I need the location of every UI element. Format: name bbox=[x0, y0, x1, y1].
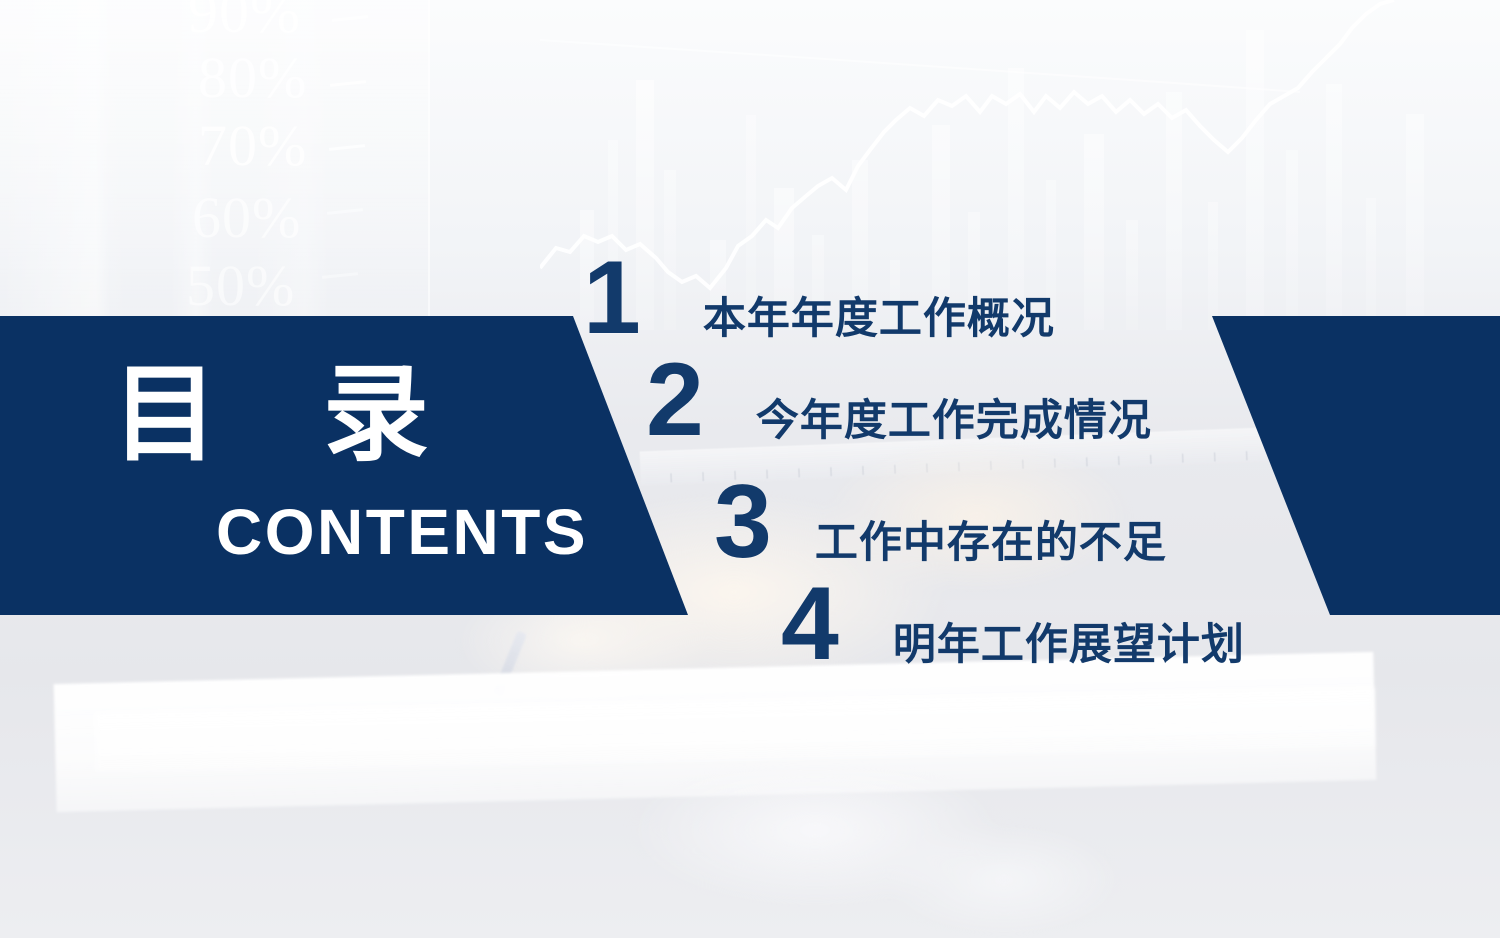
agenda-item-3[interactable]: 3 工作中存在的不足 bbox=[714, 470, 1167, 574]
agenda-item-2-number: 2 bbox=[646, 348, 704, 452]
agenda-item-1-label: 本年年度工作概况 bbox=[703, 298, 1055, 341]
agenda-item-4[interactable]: 4 明年工作展望计划 bbox=[781, 572, 1245, 676]
agenda-list: 1 本年年度工作概况 2 今年度工作完成情况 3 工作中存在的不足 4 明年工作… bbox=[0, 0, 1500, 938]
agenda-item-4-number: 4 bbox=[781, 572, 839, 676]
agenda-item-1-number: 1 bbox=[583, 246, 641, 350]
agenda-item-3-number: 3 bbox=[714, 470, 772, 574]
agenda-item-2[interactable]: 2 今年度工作完成情况 bbox=[646, 348, 1152, 452]
agenda-item-1[interactable]: 1 本年年度工作概况 bbox=[583, 246, 1055, 350]
agenda-item-2-label: 今年度工作完成情况 bbox=[756, 400, 1152, 443]
agenda-item-4-label: 明年工作展望计划 bbox=[893, 624, 1245, 667]
slide-canvas: 90% 80% 70% 60% 50% 目 录 CONTENTS 1 本年 bbox=[0, 0, 1500, 938]
agenda-item-3-label: 工作中存在的不足 bbox=[815, 522, 1167, 565]
